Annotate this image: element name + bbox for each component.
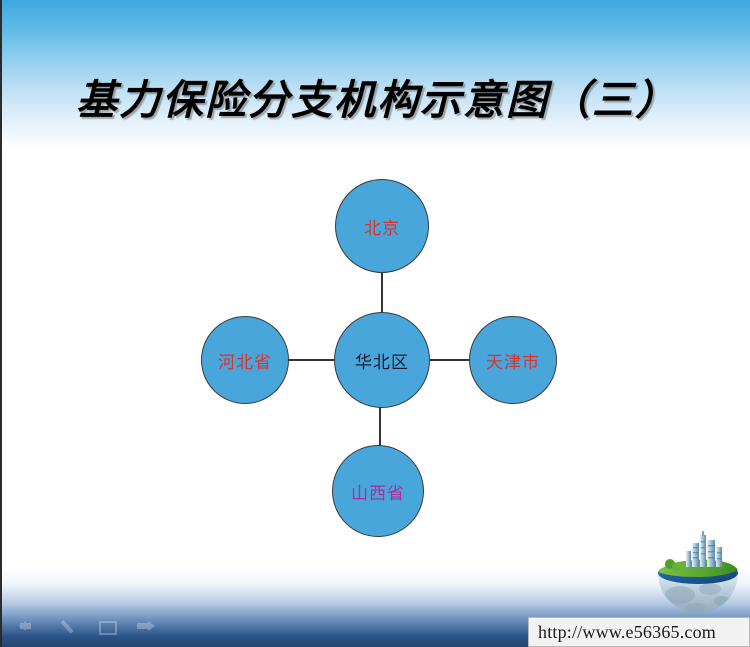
globe-city-logo <box>652 529 744 617</box>
org-diagram: 北京 河北省 华北区 天津市 山西省 <box>2 0 750 647</box>
node-huabei-center[interactable]: 华北区 <box>334 312 430 408</box>
node-beijing-label: 北京 <box>364 214 400 239</box>
node-tianjin-label: 天津市 <box>486 348 540 373</box>
link-center-hebei <box>288 359 336 361</box>
url-watermark-box: http://www.e56365.com <box>528 617 750 647</box>
node-huabei-label: 华北区 <box>355 348 409 373</box>
node-hebei-label: 河北省 <box>218 348 272 373</box>
node-shanxi[interactable]: 山西省 <box>332 445 424 537</box>
node-beijing[interactable]: 北京 <box>335 179 429 273</box>
link-center-beijing <box>381 266 383 316</box>
slide-canvas: 基力保险分支机构示意图（三） 北京 河北省 华北区 天津市 山西省 <box>0 0 750 647</box>
node-tianjin[interactable]: 天津市 <box>469 316 557 404</box>
node-shanxi-label: 山西省 <box>351 479 405 504</box>
node-hebei[interactable]: 河北省 <box>201 316 289 404</box>
url-text: http://www.e56365.com <box>538 622 716 643</box>
link-center-tianjin <box>428 359 472 361</box>
link-center-shanxi <box>379 404 381 450</box>
